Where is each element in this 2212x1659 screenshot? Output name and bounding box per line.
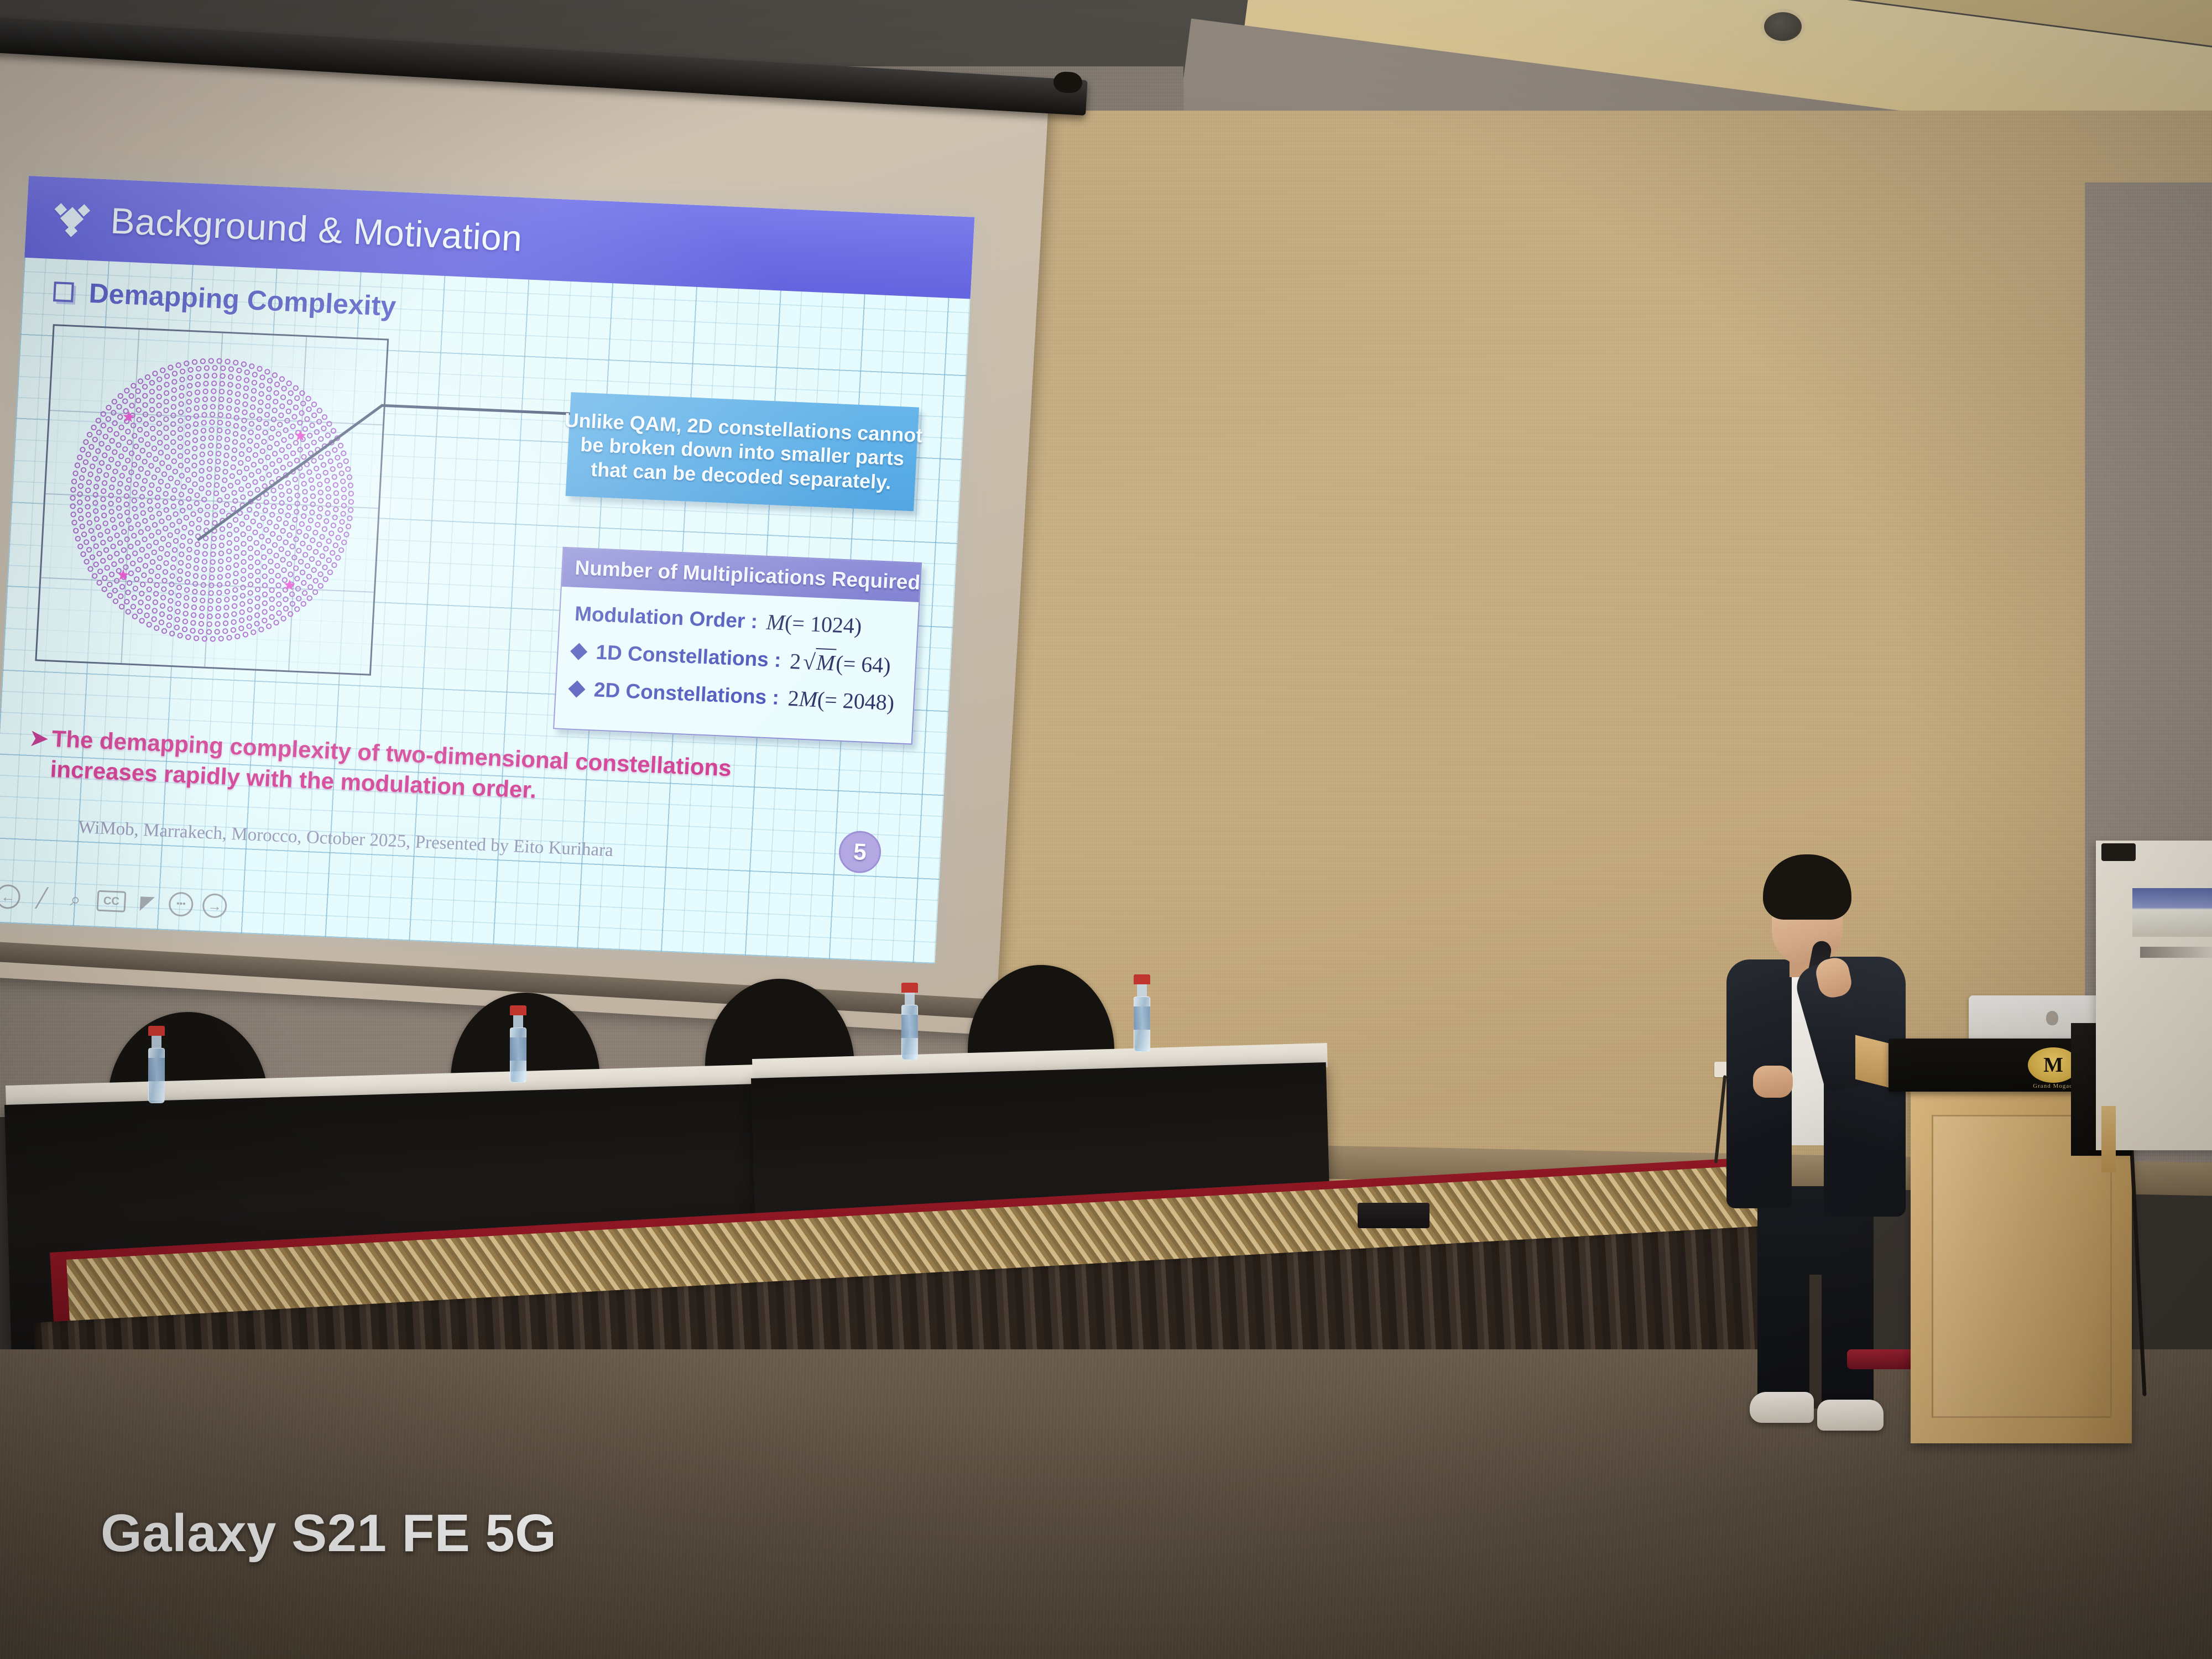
camera-watermark: Galaxy S21 FE 5G: [101, 1503, 556, 1564]
flipchart-clip: [2101, 843, 2136, 861]
two-d-constellations-math: 2M(= 2048): [787, 685, 895, 716]
square-bullet-icon: [53, 281, 74, 302]
ceiling-downlight-icon: [1764, 12, 1802, 41]
apple-logo-icon: [2046, 1011, 2058, 1025]
four-diamond-bullet-icon: [54, 201, 89, 236]
slide-title: Background & Motivation: [109, 200, 524, 259]
water-bottle: [148, 1026, 165, 1103]
presenter-shoe: [1750, 1392, 1814, 1423]
one-d-constellations-math: 2√M(= 64): [789, 647, 891, 679]
projected-slide: Background & Motivation Demapping Comple…: [0, 176, 974, 964]
two-d-constellations-row: 2D Constellations : 2M(= 2048): [570, 676, 914, 717]
screen-roller-end-cap: [1053, 71, 1083, 94]
more-options-button[interactable]: •••: [168, 891, 194, 917]
flipchart-board: [2096, 841, 2212, 1150]
one-d-constellations-row: 1D Constellations : 2√M(= 64): [572, 638, 916, 680]
diamond-bullet-icon: [570, 643, 587, 660]
multiplications-box-title: Number of Multiplications Required: [575, 556, 921, 594]
water-bottle: [1134, 974, 1150, 1052]
previous-slide-button[interactable]: ←: [0, 884, 21, 910]
multiplications-box: Number of Multiplications Required Modul…: [553, 547, 922, 745]
floor-mat: [1847, 1349, 1919, 1369]
presenter-hand: [1753, 1066, 1793, 1098]
zoom-button[interactable]: ⌕: [62, 887, 88, 912]
flipchart-leg: [2101, 1106, 2116, 1172]
next-slide-button[interactable]: →: [202, 893, 227, 919]
camera-off-button[interactable]: ◤: [134, 890, 160, 916]
presenter-hair: [1763, 854, 1851, 920]
floor-speaker-box: [1358, 1203, 1430, 1228]
water-bottle: [901, 983, 918, 1060]
diamond-bullet-icon: [568, 680, 586, 697]
callout-connector-line: [192, 363, 588, 562]
modulation-order-label: Modulation Order :: [574, 602, 758, 633]
callout-box: Unlike QAM, 2D constellations cannot be …: [566, 392, 919, 511]
modulation-order-row: Modulation Order : M(= 1024): [574, 601, 918, 641]
flipchart-poster-image: [2132, 888, 2212, 937]
modulation-order-math: M(= 1024): [766, 609, 863, 639]
water-bottle: [510, 1005, 526, 1083]
arrow-bullet-icon: ➤: [28, 726, 50, 752]
conference-room-photo: Background & Motivation Demapping Comple…: [0, 0, 2212, 1659]
presenter-shoe: [1817, 1400, 1884, 1431]
pen-tool-button[interactable]: ╱: [29, 885, 54, 911]
two-d-constellations-label: 2D Constellations :: [593, 678, 780, 709]
one-d-constellations-label: 1D Constellations :: [596, 640, 782, 672]
flipchart-poster-text: [2140, 947, 2212, 958]
captions-button[interactable]: CC: [96, 890, 126, 912]
